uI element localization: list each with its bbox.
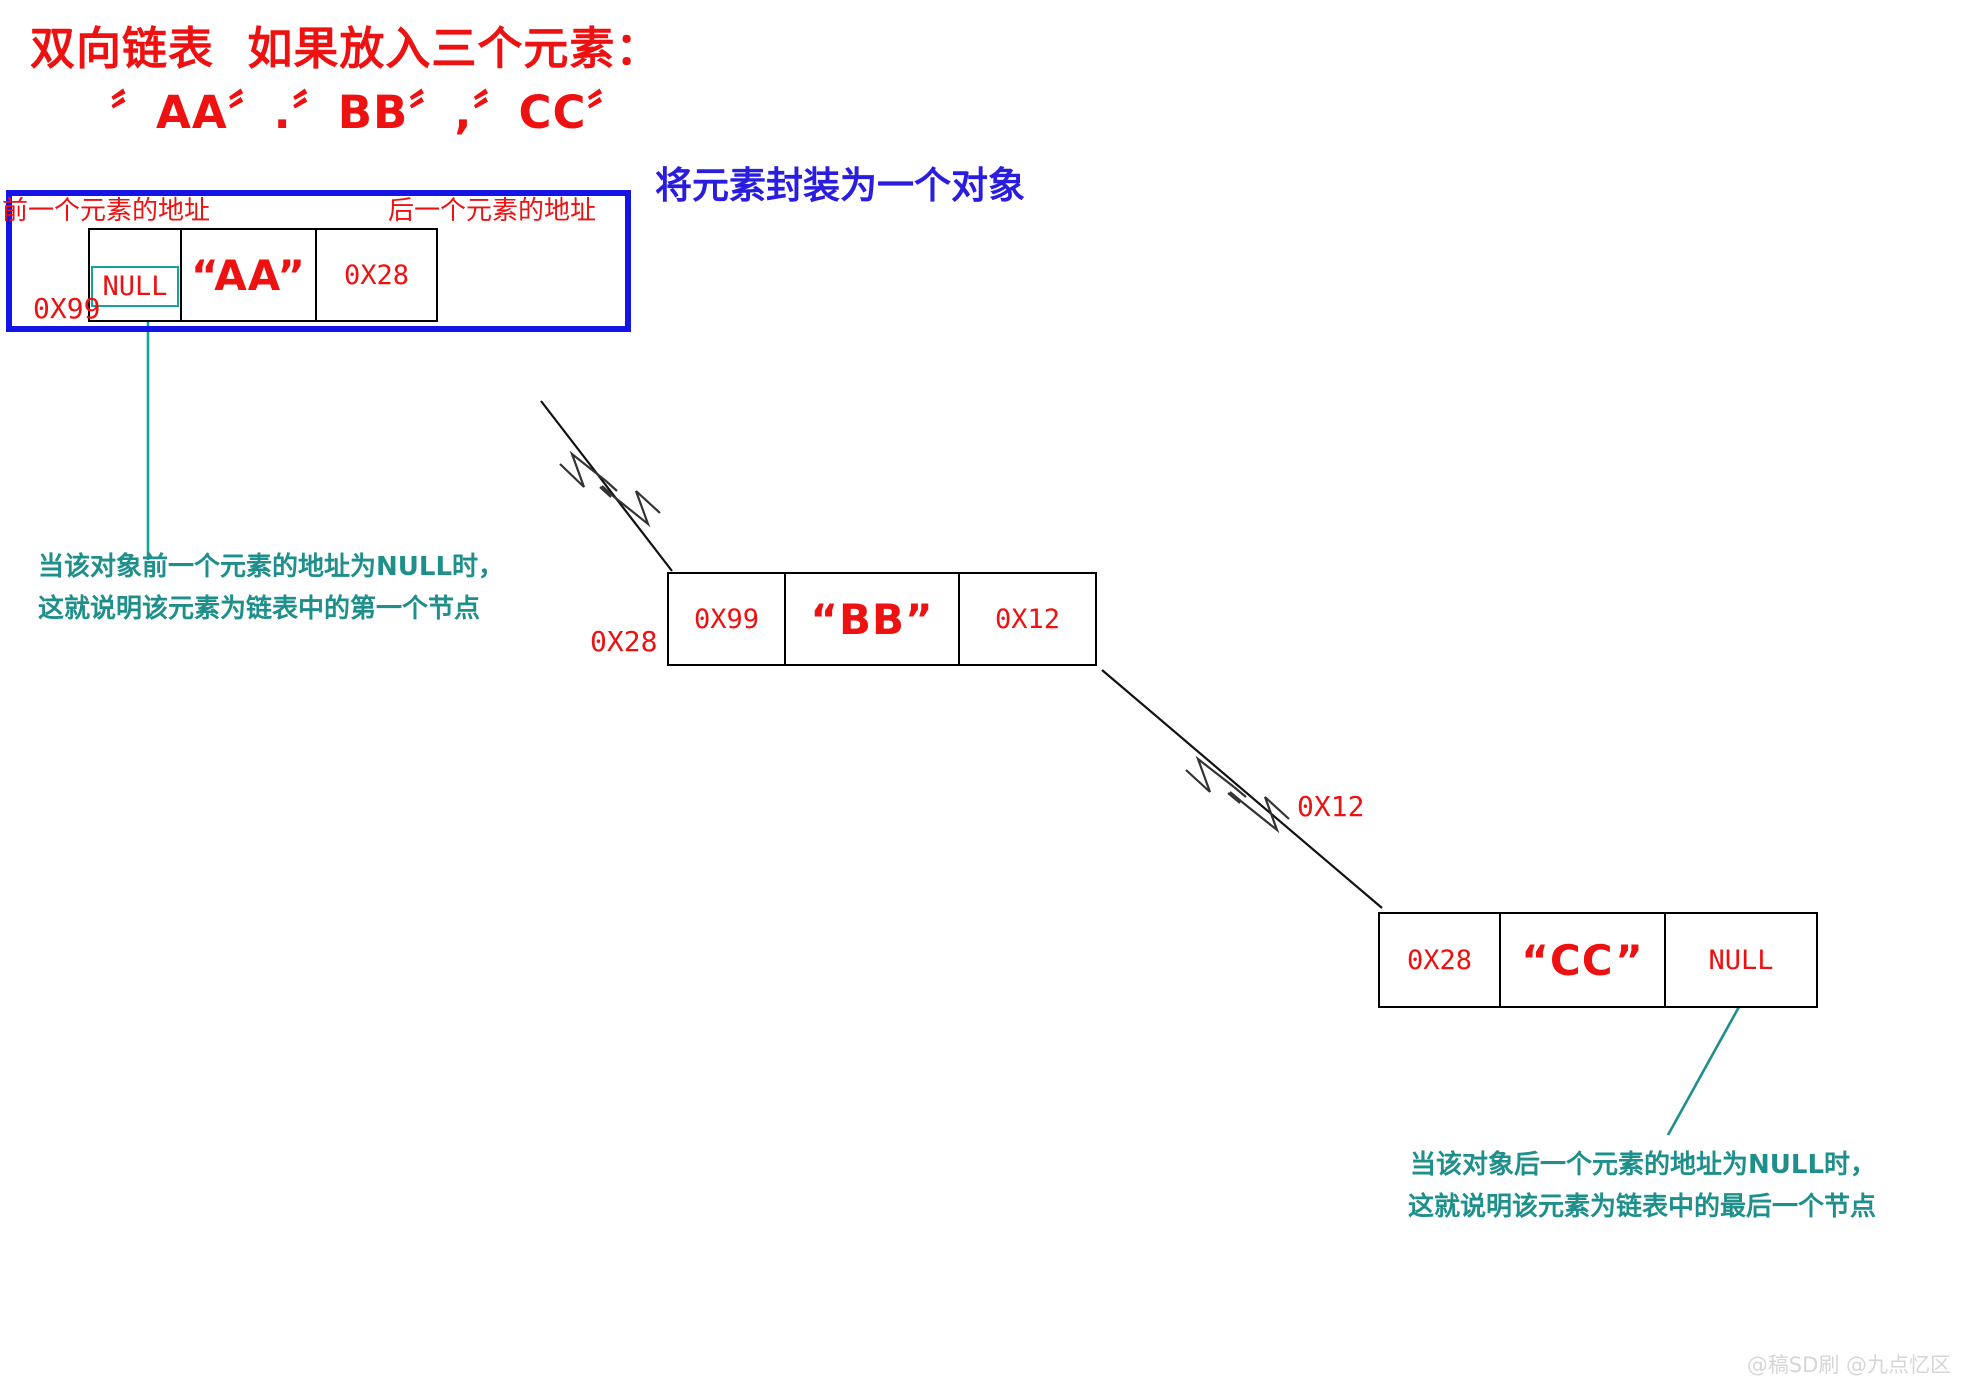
diagram-canvas: 双向链表 如果放入三个元素： 〞AA〞.〞BB〞,〞CC〞 将元素封装为一个对象 xyxy=(0,0,1969,1389)
arrow-head-aa-bb-lower xyxy=(602,486,660,524)
watermark-text: @稿SD刷 @九点忆区 xyxy=(1747,1349,1951,1379)
object-encapsulation-caption: 将元素封装为一个对象 xyxy=(655,155,1025,209)
node-cc-value-cell: “CC” xyxy=(1501,914,1666,1006)
node-aa-value-cell: “AA” xyxy=(182,230,317,320)
node-bb-next-cell: 0X12 xyxy=(960,574,1095,664)
null-chip-prev: NULL xyxy=(91,266,178,307)
list-node-cc[interactable]: 0X28 “CC” NULL xyxy=(1378,912,1818,1008)
arrow-head-aa-bb-upper xyxy=(560,454,617,497)
node-aa-next-cell: 0X28 xyxy=(317,230,436,320)
list-node-bb[interactable]: 0X99 “BB” 0X12 xyxy=(667,572,1097,666)
connector-aa-bb xyxy=(541,401,672,571)
arrow-head-bb-cc-lower xyxy=(1230,792,1289,830)
node-aa-prev-cell: NULL xyxy=(90,230,182,320)
connector-bb-cc xyxy=(1102,670,1382,908)
node-cc-address-label: 0X12 xyxy=(1297,790,1364,823)
leader-line-last-node xyxy=(1668,996,1745,1135)
node-cc-next-cell: NULL xyxy=(1666,914,1816,1006)
node-bb-address-label: 0X28 xyxy=(590,625,657,658)
annotation-first-node: 当该对象前一个元素的地址为NULL时， 这就说明该元素为链表中的第一个节点 xyxy=(38,546,504,630)
page-title-line-2: 〞AA〞.〞BB〞,〞CC〞 xyxy=(110,76,633,141)
node-bb-prev-cell: 0X99 xyxy=(669,574,786,664)
list-node-aa[interactable]: NULL “AA” 0X28 xyxy=(88,228,438,322)
node-aa-address-label: 0X99 xyxy=(33,292,100,325)
next-pointer-caption: 后一个元素的地址 xyxy=(388,190,596,227)
page-title-line-1: 双向链表 如果放入三个元素： xyxy=(30,12,661,77)
node-bb-value-cell: “BB” xyxy=(786,574,960,664)
prev-pointer-caption: 前一个元素的地址 xyxy=(2,190,210,227)
node-cc-prev-cell: 0X28 xyxy=(1380,914,1501,1006)
annotation-last-node: 当该对象后一个元素的地址为NULL时， 这就说明该元素为链表中的最后一个节点 xyxy=(1408,1144,1876,1228)
arrow-head-bb-cc-upper xyxy=(1186,759,1246,803)
